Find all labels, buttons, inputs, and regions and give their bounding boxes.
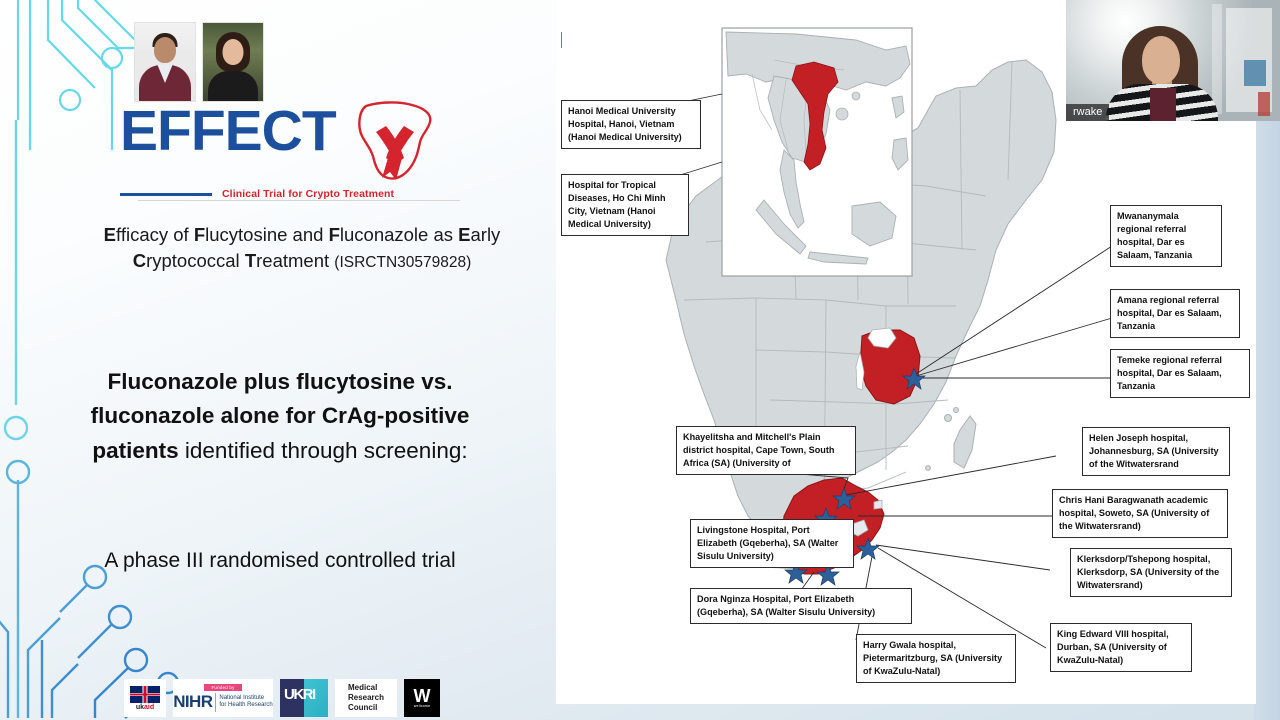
webcam-blue-object (1244, 60, 1266, 86)
webcam-participant-label: rwake (1066, 104, 1109, 121)
logo-divider-rule (120, 193, 212, 196)
funder-logo-nihr: Funded by NIHR National Institute for He… (173, 679, 273, 717)
africa-ribbon-icon (346, 100, 440, 184)
webcam-speaker-shirt (1150, 88, 1176, 121)
funder-logo-ukaid: ukaid (124, 679, 166, 717)
funder-logo-ukri: UKRI (280, 679, 328, 717)
funder-logo-mrc: Medical Research Council (335, 679, 397, 717)
funder-logos: ukaid Funded by NIHR National Institute … (124, 679, 440, 717)
logo-tagline: Clinical Trial for Crypto Treatment (222, 188, 394, 200)
statement-rest: identified through screening: (179, 438, 468, 463)
logo-underline (138, 200, 460, 201)
webcam-video-tile[interactable]: rwake (1066, 0, 1280, 121)
study-statement: Fluconazole plus flucytosine vs. flucona… (55, 365, 505, 468)
callout-chris-hani-baragwanath[interactable]: Chris Hani Baragwanath academic hospital… (1052, 489, 1228, 538)
trial-registration-number: (ISRCTN30579828) (334, 254, 471, 271)
callout-hospital-tropical-diseases[interactable]: Hospital for Tropical Diseases, Ho Chi M… (561, 174, 689, 236)
callout-temeke[interactable]: Temeke regional referral hospital, Dar e… (1110, 349, 1250, 398)
investigator-photos (134, 22, 264, 102)
subtitle-cap-e1: E (104, 224, 116, 245)
study-phase-line: A phase III randomised controlled trial (55, 545, 505, 577)
callout-dora-nginza[interactable]: Dora Nginza Hospital, Port Elizabeth (Gq… (690, 588, 912, 624)
callout-khayelitsha-mitchells-plain[interactable]: Khayelitsha and Mitchell's Plain distric… (676, 426, 856, 475)
effect-logo: EFFECT Clinical Trial for Crypto Treatme… (120, 104, 460, 200)
callout-king-edward-viii[interactable]: King Edward VIII hospital, Durban, SA (U… (1050, 623, 1192, 672)
callout-harry-gwala[interactable]: Harry Gwala hospital, Pietermaritzburg, … (856, 634, 1016, 683)
presentation-slide: EFFECT Clinical Trial for Crypto Treatme… (0, 0, 1280, 720)
funder-logo-wellcome: W wellcome (404, 679, 440, 717)
callout-hanoi-medical-university[interactable]: Hanoi Medical University Hospital, Hanoi… (561, 100, 701, 149)
callout-klerksdorp-tshepong[interactable]: Klerksdorp/Tshepong hospital, Klerksdorp… (1070, 548, 1232, 597)
study-subtitle: Efficacy of Flucytosine and Fluconazole … (62, 222, 542, 273)
investigator-photo-1 (134, 22, 196, 102)
callout-mwananyamala[interactable]: Mwananymala regional referral hospital, … (1110, 205, 1222, 267)
callout-livingstone[interactable]: Livingstone Hospital, Port Elizabeth (Gq… (690, 519, 854, 568)
webcam-window-light (1212, 4, 1222, 114)
investigator-photo-2 (202, 22, 264, 102)
madagascar (954, 416, 976, 468)
webcam-red-object (1258, 92, 1270, 116)
southeast-asia-inset (722, 28, 912, 276)
logo-wordmark: EFFECT (120, 104, 336, 158)
callout-amana[interactable]: Amana regional referral hospital, Dar es… (1110, 289, 1240, 338)
callout-helen-joseph[interactable]: Helen Joseph hospital, Johannesburg, SA … (1082, 427, 1230, 476)
webcam-speaker-face (1142, 36, 1180, 84)
